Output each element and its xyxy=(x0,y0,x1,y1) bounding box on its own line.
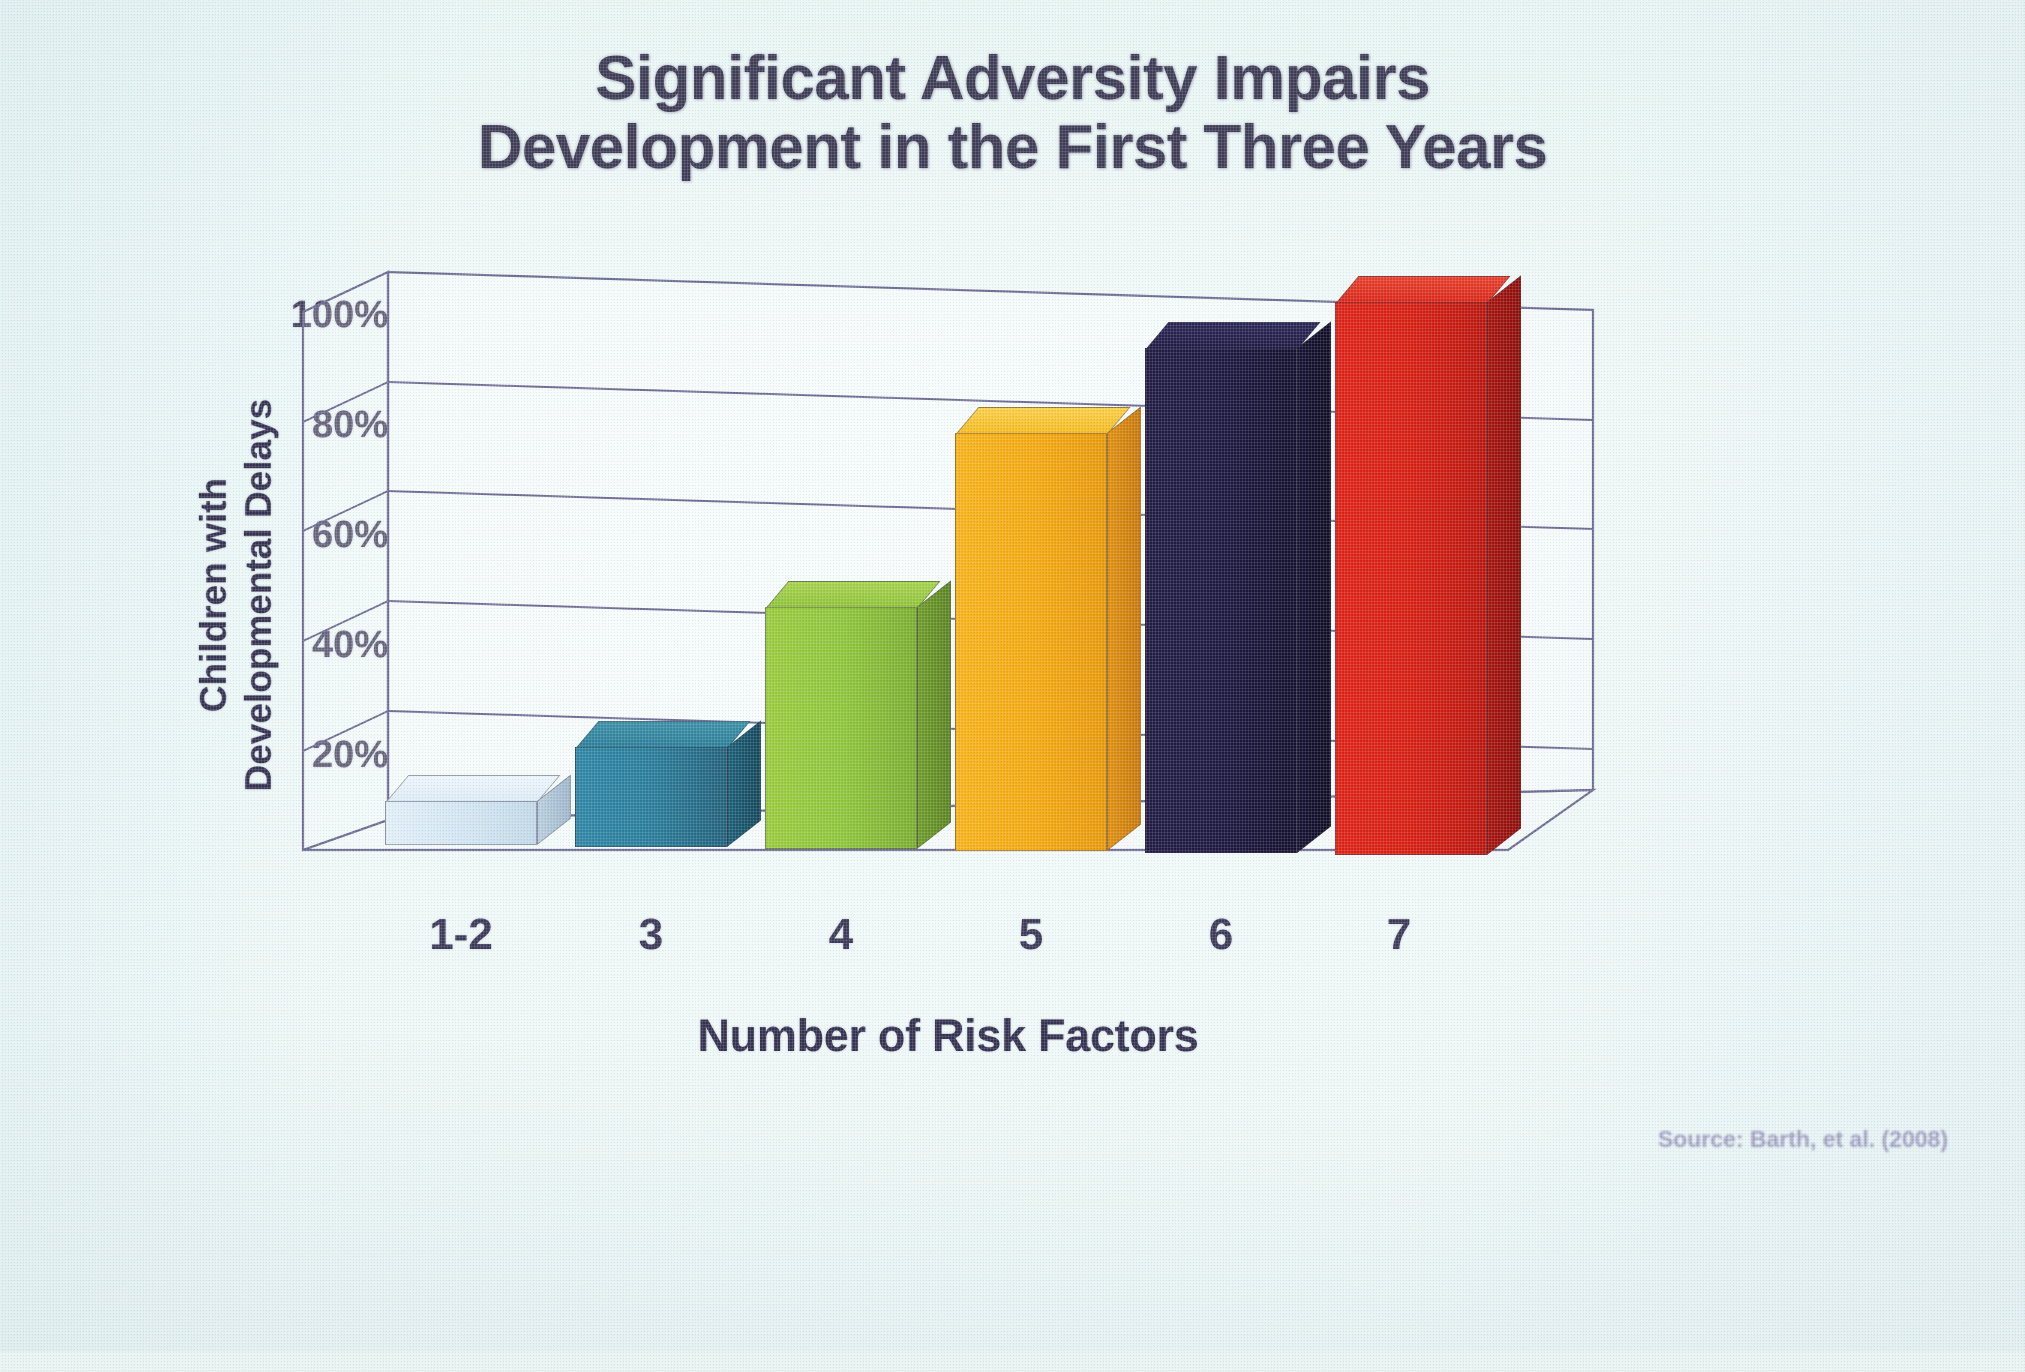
bar-top-face xyxy=(955,407,1130,435)
bar-1-2[interactable] xyxy=(385,801,537,845)
slide-title: Significant Adversity Impairs Developmen… xyxy=(0,44,2025,183)
bar-series xyxy=(303,250,1593,890)
x-tick-5: 5 xyxy=(951,910,1111,960)
bar-front-face xyxy=(765,607,917,849)
bar-3[interactable] xyxy=(575,747,727,847)
bar-side-face xyxy=(1297,321,1331,853)
bar-5[interactable] xyxy=(955,433,1107,851)
bar-front-face xyxy=(1335,302,1487,855)
source-note: Source: Barth, et al. (2008) xyxy=(1478,1126,1948,1153)
bar-side-face xyxy=(1487,275,1521,855)
bar-side-face xyxy=(917,580,951,849)
bar-7[interactable] xyxy=(1335,302,1487,855)
plot-area xyxy=(303,250,1593,890)
x-axis-title: Number of Risk Factors xyxy=(303,1010,1593,1062)
bar-top-face xyxy=(765,581,940,609)
x-tick-3: 3 xyxy=(571,910,731,960)
bar-top-face xyxy=(575,721,750,749)
x-tick-7: 7 xyxy=(1319,910,1479,960)
bar-side-face xyxy=(1107,406,1141,851)
bar-front-face xyxy=(575,747,727,847)
x-tick-1-2: 1-2 xyxy=(381,910,541,960)
bar-front-face xyxy=(1145,348,1297,853)
bar-top-face xyxy=(1145,322,1320,350)
slide-title-line-2: Development in the First Three Years xyxy=(0,113,2025,182)
x-tick-4: 4 xyxy=(761,910,921,960)
bar-top-face xyxy=(385,775,560,803)
slide-title-line-1: Significant Adversity Impairs xyxy=(0,44,2025,113)
slide-background: Significant Adversity Impairs Developmen… xyxy=(0,0,2025,1352)
bar-chart: Children with Developmental Delays 100% … xyxy=(88,250,1938,1210)
bar-6[interactable] xyxy=(1145,348,1297,853)
bar-4[interactable] xyxy=(765,607,917,849)
bar-top-face xyxy=(1335,276,1510,304)
bar-front-face xyxy=(955,433,1107,851)
bar-front-face xyxy=(385,801,537,845)
x-axis-tick-labels: 1-2 3 4 5 6 7 xyxy=(303,910,1593,980)
x-tick-6: 6 xyxy=(1141,910,1301,960)
